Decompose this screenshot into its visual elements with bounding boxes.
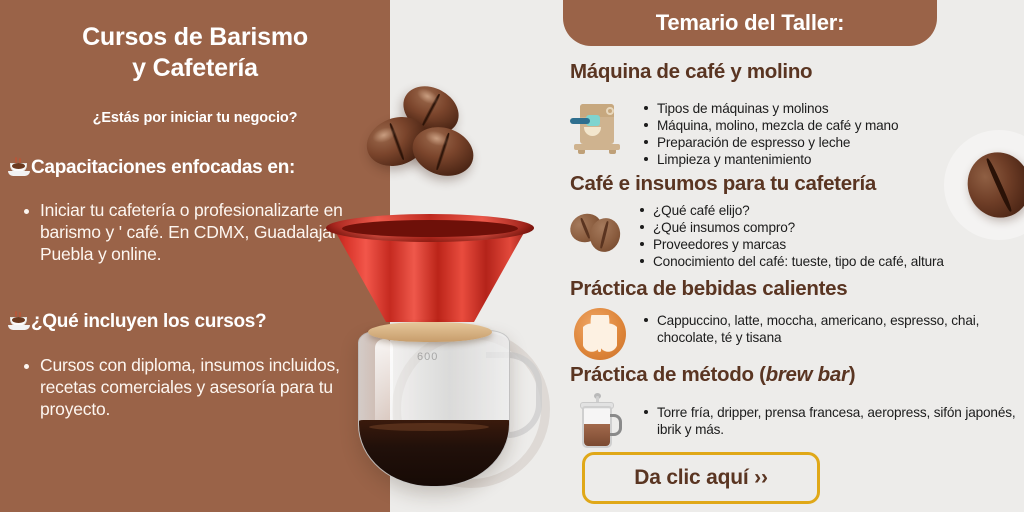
list-item: Proveedores y marcas bbox=[640, 236, 1020, 253]
temario-title: Temario del Taller: bbox=[656, 10, 845, 36]
coffee-bean-photo bbox=[406, 120, 479, 184]
espresso-machine-icon bbox=[570, 100, 628, 158]
list-item: Iniciar tu cafetería o profesionalizarte… bbox=[40, 200, 392, 266]
section-bullets-bebidas: Cappuccino, latte, moccha, americano, es… bbox=[644, 312, 1019, 346]
decorative-ring bbox=[392, 330, 550, 488]
section-title-bebidas: Práctica de bebidas calientes bbox=[570, 277, 847, 301]
list-item: Torre fría, dripper, prensa francesa, ae… bbox=[644, 404, 1019, 438]
section-title-metodo: Práctica de método (brew bar) bbox=[570, 363, 855, 387]
page-subtitle: ¿Estás por iniciar tu negocio? bbox=[0, 110, 390, 126]
section-title-metodo-italic: brew bar bbox=[766, 363, 849, 386]
section-title-metodo-pre: Práctica de método ( bbox=[570, 363, 766, 386]
page-title-line2: y Cafetería bbox=[0, 53, 390, 84]
coffee-cup-icon bbox=[8, 312, 30, 330]
list-item: ¿Qué café elijo? bbox=[640, 202, 1020, 219]
latte-art-icon bbox=[574, 308, 626, 360]
list-item: Preparación de espresso y leche bbox=[644, 134, 1019, 151]
coffee-bean-photo bbox=[395, 77, 467, 143]
temario-header-pill: Temario del Taller: bbox=[563, 0, 937, 46]
page-title-line1: Cursos de Barismo bbox=[0, 22, 390, 53]
section-bullets-cafe-insumos: ¿Qué café elijo? ¿Qué insumos compro? Pr… bbox=[640, 202, 1020, 271]
list-item: ¿Qué insumos compro? bbox=[640, 219, 1020, 236]
french-press-icon bbox=[576, 396, 624, 452]
section-title-cafe-insumos: Café e insumos para tu cafetería bbox=[570, 172, 876, 196]
cta-button[interactable]: Da clic aquí ›› bbox=[582, 452, 820, 504]
list-item: Cursos con diploma, insumos incluidos, r… bbox=[40, 355, 392, 421]
lead-incluyen: ¿Qué incluyen los cursos? bbox=[8, 311, 388, 333]
list-item: Limpieza y mantenimiento bbox=[644, 151, 1019, 168]
right-content: Temario del Taller: Máquina de café y mo… bbox=[560, 0, 1024, 512]
section-bullets-metodo: Torre fría, dripper, prensa francesa, ae… bbox=[644, 404, 1019, 438]
list-item: Cappuccino, latte, moccha, americano, es… bbox=[644, 312, 1019, 346]
lead-capacitaciones-label: Capacitaciones enfocadas en: bbox=[31, 157, 295, 178]
section-bullets-maquina: Tipos de máquinas y molinos Máquina, mol… bbox=[644, 100, 1019, 169]
list-item: Tipos de máquinas y molinos bbox=[644, 100, 1019, 117]
left-list-capacitaciones: Iniciar tu cafetería o profesionalizarte… bbox=[14, 200, 392, 266]
coffee-beans-icon bbox=[570, 208, 628, 260]
coffee-cup-icon bbox=[8, 158, 30, 176]
page-title: Cursos de Barismo y Cafetería bbox=[0, 22, 390, 83]
promo-banner: Cursos de Barismo y Cafetería ¿Estás por… bbox=[0, 0, 1024, 512]
lead-capacitaciones: Capacitaciones enfocadas en: bbox=[8, 157, 388, 179]
left-brown-panel: Cursos de Barismo y Cafetería ¿Estás por… bbox=[0, 0, 390, 512]
section-title-metodo-post: ) bbox=[849, 363, 856, 386]
cta-button-label: Da clic aquí ›› bbox=[634, 466, 768, 490]
lead-incluyen-label: ¿Qué incluyen los cursos? bbox=[31, 311, 266, 332]
list-item: Conocimiento del café: tueste, tipo de c… bbox=[640, 253, 1020, 270]
section-title-maquina: Máquina de café y molino bbox=[570, 60, 812, 84]
left-list-incluyen: Cursos con diploma, insumos incluidos, r… bbox=[14, 355, 392, 421]
list-item: Máquina, molino, mezcla de café y mano bbox=[644, 117, 1019, 134]
